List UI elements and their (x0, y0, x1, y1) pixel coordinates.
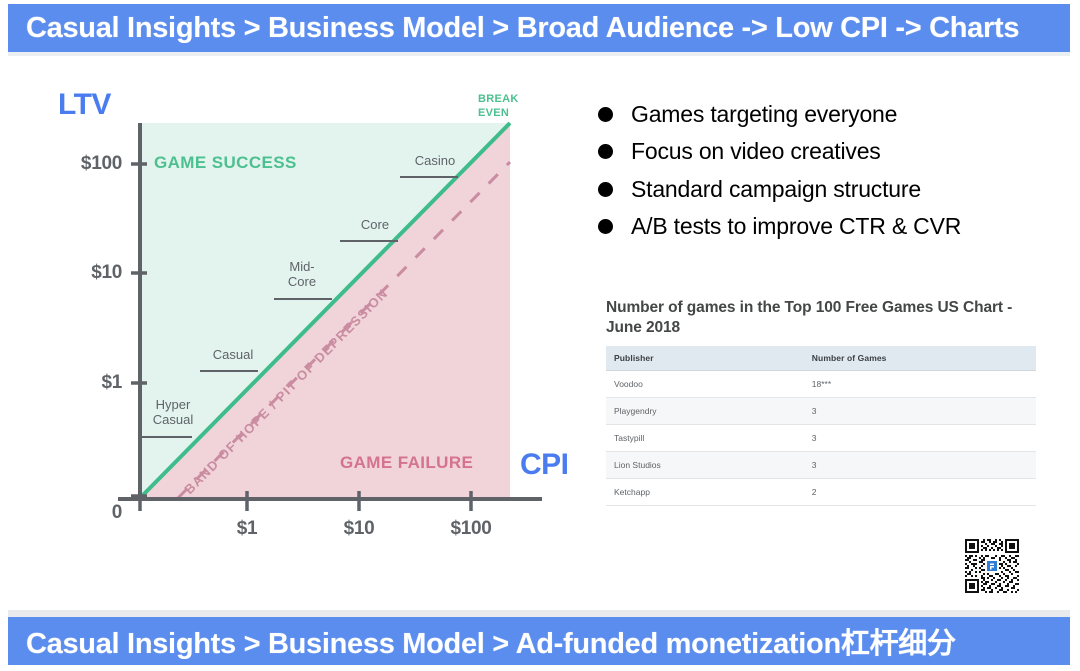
cell-publisher: Playgendry (606, 398, 804, 425)
break-even-label: BREAK EVEN (478, 93, 519, 121)
cell-games: 3 (804, 398, 1036, 425)
bullet-text: A/B tests to improve CTR & CVR (631, 212, 961, 241)
column-header-publisher: Publisher (606, 346, 804, 371)
list-item: A/B tests to improve CTR & CVR (598, 212, 1068, 241)
y-tick-label-100: $100 (36, 153, 122, 175)
y-tick-label-1: $1 (36, 372, 122, 394)
zone-label-game-success: GAME SUCCESS (154, 153, 297, 173)
table-row: Lion Studios 3 (606, 452, 1036, 479)
list-item: Games targeting everyone (598, 100, 1068, 129)
cell-publisher: Voodoo (606, 371, 804, 398)
cell-games: 2 (804, 479, 1036, 506)
games-table-block: Number of games in the Top 100 Free Game… (606, 298, 1036, 506)
segment-label-hyper-casual: HyperCasual (138, 398, 208, 428)
bullet-dot-icon (598, 144, 613, 159)
segment-label-casino: Casino (400, 154, 470, 169)
segment-rule-casual (200, 370, 258, 372)
bullet-dot-icon (598, 107, 613, 122)
bullet-text: Games targeting everyone (631, 100, 897, 129)
cell-publisher: Lion Studios (606, 452, 804, 479)
column-header-number-of-games: Number of Games (804, 346, 1036, 371)
slide: Casual Insights > Business Model > Broad… (0, 0, 1080, 671)
x-tick-label-10: $10 (319, 518, 399, 540)
top-banner-text: Casual Insights > Business Model > Broad… (26, 12, 1019, 45)
zone-label-game-failure: GAME FAILURE (340, 453, 473, 473)
bullet-list: Games targeting everyone Focus on video … (598, 100, 1068, 250)
table-row: Ketchapp 2 (606, 479, 1036, 506)
top-banner-underline (8, 52, 1070, 56)
bottom-banner-text: Casual Insights > Business Model > Ad-fu… (26, 620, 956, 662)
x-tick-label-1: $1 (207, 518, 287, 540)
break-even-label-line2: EVEN (478, 107, 519, 121)
break-even-label-line1: BREAK (478, 93, 519, 107)
x-axis-title: CPI (520, 448, 569, 482)
bottom-banner: Casual Insights > Business Model > Ad-fu… (8, 617, 1070, 665)
bullet-text: Focus on video creatives (631, 137, 881, 166)
cell-publisher: Ketchapp (606, 479, 804, 506)
qr-code[interactable] (963, 537, 1021, 595)
segment-rule-mid-core (274, 298, 332, 300)
chart-graphic (30, 78, 590, 548)
bullet-dot-icon (598, 219, 613, 234)
cell-games: 3 (804, 452, 1036, 479)
table-row: Playgendry 3 (606, 398, 1036, 425)
segment-label-mid-core: Mid-Core (272, 260, 332, 290)
bullet-text: Standard campaign structure (631, 175, 921, 204)
y-tick-label-10: $10 (36, 262, 122, 284)
segment-rule-core (340, 240, 398, 242)
segment-rule-hyper-casual (140, 436, 192, 438)
qr-code-icon (963, 537, 1021, 595)
x-tick-label-100: $100 (431, 518, 511, 540)
cell-games: 3 (804, 425, 1036, 452)
y-tick-label-0: 0 (36, 502, 122, 524)
segment-label-core: Core (345, 218, 405, 233)
segment-rule-casino (400, 176, 458, 178)
bottom-banner-overline (8, 610, 1070, 617)
table-row: Tastypill 3 (606, 425, 1036, 452)
ltv-cpi-chart: LTV CPI $100 $10 $1 0 $1 $10 $100 GAME S… (30, 78, 590, 548)
cell-publisher: Tastypill (606, 425, 804, 452)
segment-label-casual: Casual (198, 348, 268, 363)
list-item: Standard campaign structure (598, 175, 1068, 204)
y-axis-title: LTV (58, 88, 111, 122)
list-item: Focus on video creatives (598, 137, 1068, 166)
games-table: Publisher Number of Games Voodoo 18*** P… (606, 346, 1036, 506)
table-row: Voodoo 18*** (606, 371, 1036, 398)
bullet-dot-icon (598, 182, 613, 197)
cell-games: 18*** (804, 371, 1036, 398)
table-header-row: Publisher Number of Games (606, 346, 1036, 371)
top-banner: Casual Insights > Business Model > Broad… (8, 4, 1070, 52)
table-title: Number of games in the Top 100 Free Game… (606, 298, 1036, 338)
